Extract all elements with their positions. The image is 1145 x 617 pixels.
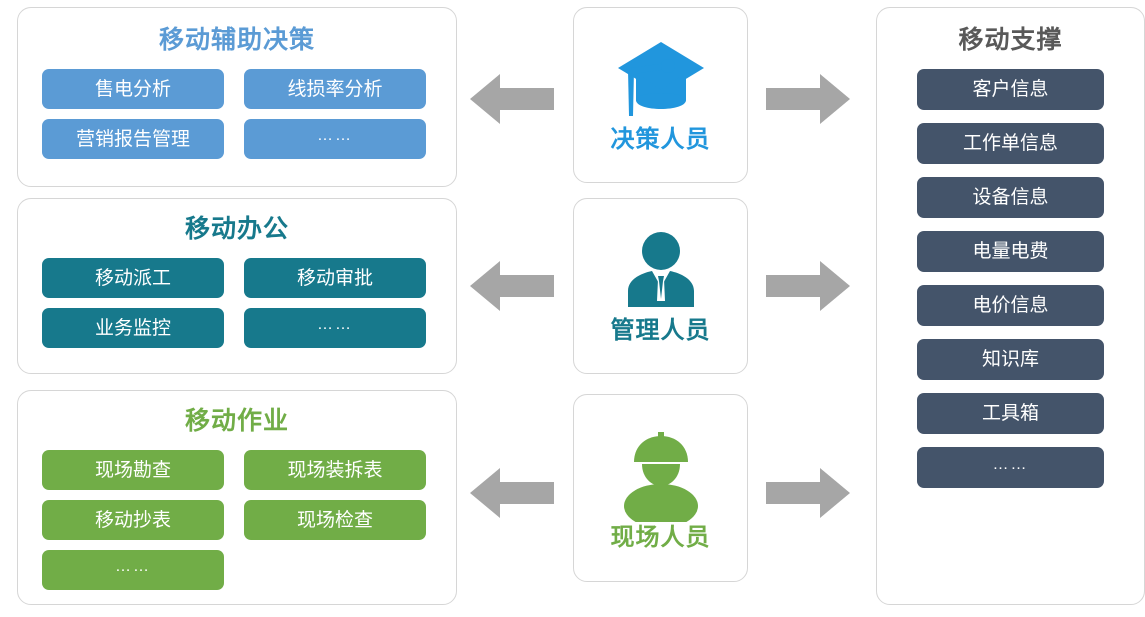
- right-arrow-field-icon: [766, 465, 850, 521]
- support-chip-item-more[interactable]: ……: [917, 447, 1104, 488]
- support-chip-item[interactable]: 电价信息: [917, 285, 1104, 326]
- panel-mobile-office: 移动办公 移动派工 移动审批 业务监控 ……: [17, 198, 457, 374]
- panel-title: 移动办公: [18, 217, 456, 242]
- chip-grid: 移动派工 移动审批 业务监控 ……: [18, 258, 456, 348]
- chip-grid: 现场勘查 现场装拆表 移动抄表 现场检查 ……: [18, 450, 456, 590]
- chip-item[interactable]: 线损率分析: [244, 69, 426, 109]
- panel-title: 移动作业: [18, 409, 456, 434]
- chip-item[interactable]: 营销报告管理: [42, 119, 224, 159]
- diagram-canvas: 移动辅助决策 售电分析 线损率分析 营销报告管理 …… 移动办公 移动派工 移动…: [0, 0, 1145, 617]
- panel-title: 移动支撑: [877, 28, 1144, 53]
- left-arrow-field-icon: [470, 465, 554, 521]
- chip-item[interactable]: 移动抄表: [42, 500, 224, 540]
- persona-card-decision-maker[interactable]: 决策人员: [573, 7, 748, 183]
- panel-mobile-field-work: 移动作业 现场勘查 现场装拆表 移动抄表 现场检查 ……: [17, 390, 457, 605]
- graduation-cap-icon: [614, 38, 708, 124]
- support-chip-item[interactable]: 电量电费: [917, 231, 1104, 272]
- hardhat-worker-icon: [614, 426, 708, 522]
- chip-item[interactable]: 现场检查: [244, 500, 426, 540]
- right-arrow-office-icon: [766, 258, 850, 314]
- panel-mobile-support: 移动支撑 客户信息 工作单信息 设备信息 电量电费 电价信息 知识库 工具箱 ……: [876, 7, 1145, 605]
- panel-title: 移动辅助决策: [18, 28, 456, 53]
- support-chip-item[interactable]: 工具箱: [917, 393, 1104, 434]
- chip-item[interactable]: 现场装拆表: [244, 450, 426, 490]
- support-chip-item[interactable]: 工作单信息: [917, 123, 1104, 164]
- businessman-icon: [614, 229, 708, 315]
- chip-item-more[interactable]: ……: [42, 550, 224, 590]
- support-chip-item[interactable]: 设备信息: [917, 177, 1104, 218]
- persona-label: 现场人员: [611, 526, 711, 550]
- persona-label: 管理人员: [611, 319, 711, 343]
- support-chip-list: 客户信息 工作单信息 设备信息 电量电费 电价信息 知识库 工具箱 ……: [877, 69, 1144, 488]
- chip-item[interactable]: 移动审批: [244, 258, 426, 298]
- left-arrow-office-icon: [470, 258, 554, 314]
- chip-grid: 售电分析 线损率分析 营销报告管理 ……: [18, 69, 456, 159]
- chip-item-more[interactable]: ……: [244, 119, 426, 159]
- support-chip-item[interactable]: 客户信息: [917, 69, 1104, 110]
- chip-item[interactable]: 移动派工: [42, 258, 224, 298]
- chip-item[interactable]: 现场勘查: [42, 450, 224, 490]
- chip-item-more[interactable]: ……: [244, 308, 426, 348]
- persona-card-field-worker[interactable]: 现场人员: [573, 394, 748, 582]
- persona-card-manager[interactable]: 管理人员: [573, 198, 748, 374]
- right-arrow-decision-icon: [766, 71, 850, 127]
- chip-item[interactable]: 业务监控: [42, 308, 224, 348]
- support-chip-item[interactable]: 知识库: [917, 339, 1104, 380]
- left-arrow-decision-icon: [470, 71, 554, 127]
- panel-mobile-decision-support: 移动辅助决策 售电分析 线损率分析 营销报告管理 ……: [17, 7, 457, 187]
- persona-label: 决策人员: [611, 128, 711, 152]
- chip-item[interactable]: 售电分析: [42, 69, 224, 109]
